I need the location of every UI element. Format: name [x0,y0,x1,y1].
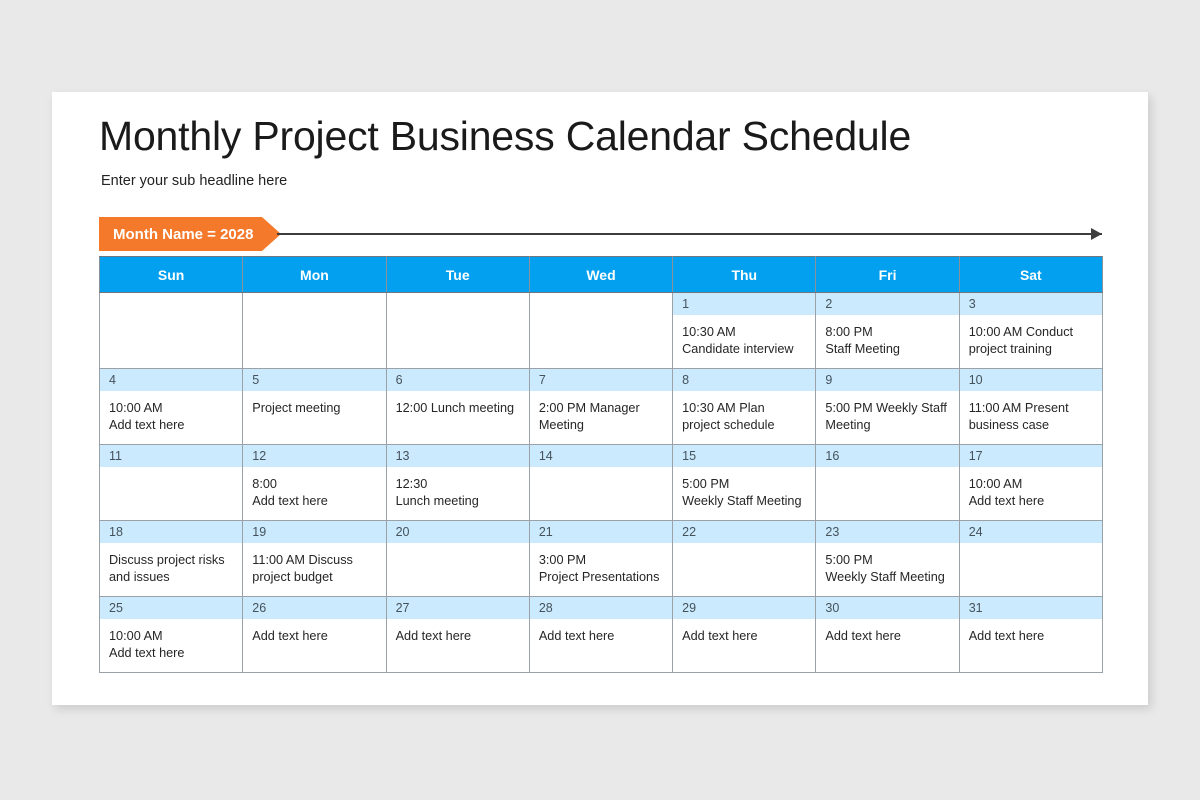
calendar-empty-cell[interactable] [386,293,529,369]
calendar-day-cell[interactable]: 612:00 Lunch meeting [386,369,529,445]
calendar-day-cell[interactable]: 810:30 AM Plan project schedule [673,369,816,445]
day-event-text: Add text here [673,619,815,645]
calendar-day-cell[interactable]: 11 [100,445,243,521]
day-event-text: 8:00 PM Staff Meeting [816,315,958,358]
day-number: 6 [387,369,529,391]
weekday-header-sat: Sat [959,257,1102,293]
page-subtitle: Enter your sub headline here [101,173,1099,189]
calendar-day-cell[interactable]: 1011:00 AM Present business case [959,369,1102,445]
calendar-day-cell[interactable]: 27Add text here [386,597,529,673]
calendar-day-cell[interactable]: 128:00 Add text here [243,445,386,521]
calendar-day-cell[interactable]: 24 [959,521,1102,597]
day-number: 12 [243,445,385,467]
calendar-day-cell[interactable]: 410:00 AM Add text here [100,369,243,445]
day-event-text: Add text here [816,619,958,645]
day-number [530,293,672,315]
day-event-text: 12:30 Lunch meeting [387,467,529,510]
day-event-text: Add text here [960,619,1102,645]
day-number [243,293,385,315]
calendar-table: Sun Mon Tue Wed Thu Fri Sat 110:30 AM Ca… [99,256,1103,673]
calendar-day-cell[interactable]: 110:30 AM Candidate interview [673,293,816,369]
calendar-day-cell[interactable]: 31Add text here [959,597,1102,673]
weekday-header-tue: Tue [386,257,529,293]
day-number: 23 [816,521,958,543]
day-event-text: Add text here [387,619,529,645]
day-number: 7 [530,369,672,391]
calendar-day-cell[interactable]: 18Discuss project risks and issues [100,521,243,597]
day-event-text: 3:00 PM Project Presentations [530,543,672,586]
day-event-text [243,315,385,324]
day-number: 21 [530,521,672,543]
day-event-text: 12:00 Lunch meeting [387,391,529,417]
calendar-day-cell[interactable]: 14 [529,445,672,521]
day-number: 4 [100,369,242,391]
calendar-day-cell[interactable]: 28:00 PM Staff Meeting [816,293,959,369]
calendar-header-row: Sun Mon Tue Wed Thu Fri Sat [100,257,1103,293]
day-event-text [387,315,529,324]
day-event-text: Discuss project risks and issues [100,543,242,586]
day-number: 9 [816,369,958,391]
day-event-text: 10:00 AM Conduct project training [960,315,1102,358]
day-number: 31 [960,597,1102,619]
day-number: 16 [816,445,958,467]
day-number: 13 [387,445,529,467]
calendar-day-cell[interactable]: 22 [673,521,816,597]
day-number [387,293,529,315]
day-number: 30 [816,597,958,619]
day-number: 2 [816,293,958,315]
day-event-text: 5:00 PM Weekly Staff Meeting [816,391,958,434]
calendar-day-cell[interactable]: 29Add text here [673,597,816,673]
weekday-header-thu: Thu [673,257,816,293]
slide-card: Monthly Project Business Calendar Schedu… [52,92,1148,705]
calendar-week-row: 2510:00 AM Add text here26Add text here2… [100,597,1103,673]
day-event-text [816,467,958,476]
day-number: 19 [243,521,385,543]
calendar-day-cell[interactable]: 213:00 PM Project Presentations [529,521,672,597]
calendar-day-cell[interactable]: 2510:00 AM Add text here [100,597,243,673]
calendar-day-cell[interactable]: 16 [816,445,959,521]
calendar-day-cell[interactable]: 235:00 PM Weekly Staff Meeting [816,521,959,597]
day-event-text: 5:00 PM Weekly Staff Meeting [816,543,958,586]
day-number: 25 [100,597,242,619]
calendar-week-row: 18Discuss project risks and issues1911:0… [100,521,1103,597]
day-event-text [100,315,242,324]
day-number: 3 [960,293,1102,315]
day-event-text [530,467,672,476]
calendar-week-row: 410:00 AM Add text here5Project meeting6… [100,369,1103,445]
calendar-empty-cell[interactable] [243,293,386,369]
weekday-header-fri: Fri [816,257,959,293]
day-event-text [673,543,815,552]
day-event-text: 11:00 AM Present business case [960,391,1102,434]
weekday-header-sun: Sun [100,257,243,293]
calendar-day-cell[interactable]: 95:00 PM Weekly Staff Meeting [816,369,959,445]
day-number: 17 [960,445,1102,467]
day-number: 22 [673,521,815,543]
page-title: Monthly Project Business Calendar Schedu… [99,114,1099,159]
day-event-text: 10:30 AM Plan project schedule [673,391,815,434]
day-event-text: 10:00 AM Add text here [960,467,1102,510]
day-number: 11 [100,445,242,467]
day-number [100,293,242,315]
calendar-day-cell[interactable]: 28Add text here [529,597,672,673]
calendar-day-cell[interactable]: 155:00 PM Weekly Staff Meeting [673,445,816,521]
day-number: 8 [673,369,815,391]
day-event-text: 2:00 PM Manager Meeting [530,391,672,434]
day-event-text: 10:30 AM Candidate interview [673,315,815,358]
weekday-header-wed: Wed [529,257,672,293]
month-banner-row: Month Name = 2028 [99,217,1102,251]
calendar-empty-cell[interactable] [529,293,672,369]
month-name-label: Month Name = 2028 [113,226,253,243]
calendar-day-cell[interactable]: 310:00 AM Conduct project training [959,293,1102,369]
calendar-day-cell[interactable]: 1911:00 AM Discuss project budget [243,521,386,597]
timeline-arrow-line [277,233,1102,235]
day-event-text [387,543,529,552]
day-number: 28 [530,597,672,619]
day-number: 29 [673,597,815,619]
timeline-arrow-head-icon [1091,228,1102,240]
day-event-text: 5:00 PM Weekly Staff Meeting [673,467,815,510]
day-number: 5 [243,369,385,391]
day-number: 26 [243,597,385,619]
calendar-day-cell[interactable]: 1312:30 Lunch meeting [386,445,529,521]
calendar-day-cell[interactable]: 72:00 PM Manager Meeting [529,369,672,445]
day-number: 1 [673,293,815,315]
calendar-day-cell[interactable]: 20 [386,521,529,597]
weekday-header-mon: Mon [243,257,386,293]
day-number: 24 [960,521,1102,543]
day-event-text: Add text here [243,619,385,645]
day-number: 14 [530,445,672,467]
day-event-text: 10:00 AM Add text here [100,391,242,434]
day-event-text: Project meeting [243,391,385,417]
day-event-text: 10:00 AM Add text here [100,619,242,662]
day-event-text: 8:00 Add text here [243,467,385,510]
calendar-day-cell[interactable]: 1710:00 AM Add text here [959,445,1102,521]
day-event-text: Add text here [530,619,672,645]
day-event-text [960,543,1102,552]
day-number: 10 [960,369,1102,391]
title-block: Monthly Project Business Calendar Schedu… [99,114,1099,189]
calendar-empty-cell[interactable] [100,293,243,369]
day-number: 20 [387,521,529,543]
day-event-text [530,315,672,324]
calendar-day-cell[interactable]: 30Add text here [816,597,959,673]
day-number: 27 [387,597,529,619]
day-number: 15 [673,445,815,467]
day-number: 18 [100,521,242,543]
month-name-banner[interactable]: Month Name = 2028 [99,217,281,251]
calendar-day-cell[interactable]: 5Project meeting [243,369,386,445]
day-event-text [100,467,242,476]
calendar-body: 110:30 AM Candidate interview28:00 PM St… [100,293,1103,673]
calendar-week-row: 11128:00 Add text here1312:30 Lunch meet… [100,445,1103,521]
calendar-week-row: 110:30 AM Candidate interview28:00 PM St… [100,293,1103,369]
day-event-text: 11:00 AM Discuss project budget [243,543,385,586]
calendar-day-cell[interactable]: 26Add text here [243,597,386,673]
